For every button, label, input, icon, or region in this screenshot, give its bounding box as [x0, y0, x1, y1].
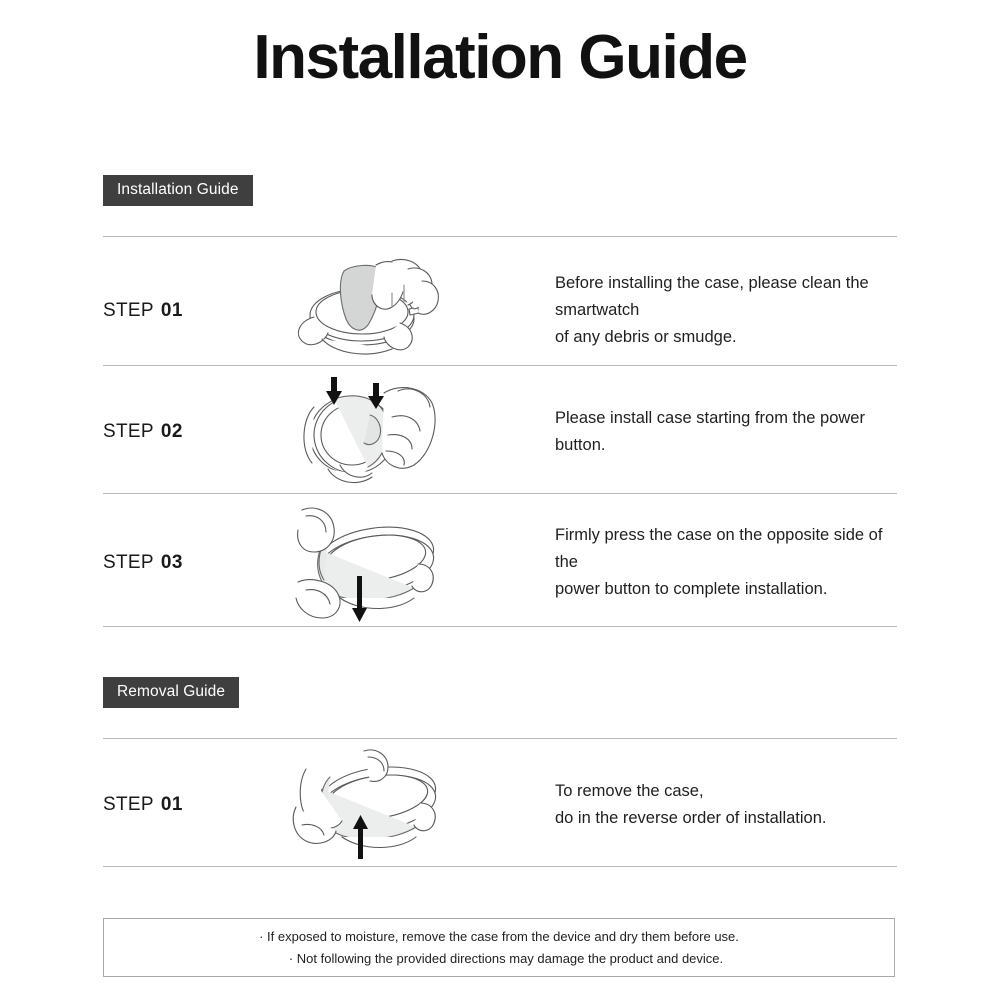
step-illustration-hand-pressing-opposite-side-down-arrow-icon [253, 502, 503, 624]
step-description: To remove the case, do in the reverse or… [503, 778, 897, 832]
step-row: STEP02 [103, 373, 897, 491]
step-description: Before installing the case, please clean… [503, 270, 897, 351]
divider [103, 626, 897, 627]
step-description: Firmly press the case on the opposite si… [503, 522, 897, 603]
description-line: Please install case starting from the po… [555, 405, 897, 459]
section-badge-removal: Removal Guide [103, 677, 239, 708]
description-line: Firmly press the case on the opposite si… [555, 522, 897, 576]
description-line: To remove the case, [555, 778, 897, 805]
step-label: STEP02 [103, 421, 253, 443]
divider [103, 365, 897, 366]
step-label: STEP03 [103, 552, 253, 574]
step-number: 02 [161, 421, 183, 442]
step-number: 01 [161, 300, 183, 321]
step-word: STEP [103, 794, 154, 815]
divider [103, 493, 897, 494]
step-number: 01 [161, 794, 183, 815]
divider [103, 236, 897, 237]
description-line: of any debris or smudge. [555, 324, 897, 351]
step-row: STEP03 [103, 501, 897, 624]
section-badge-installation: Installation Guide [103, 175, 253, 206]
footer-note-line: · If exposed to moisture, remove the cas… [259, 926, 739, 947]
footer-note-line: · Not following the provided directions … [275, 948, 723, 969]
step-word: STEP [103, 300, 154, 321]
description-line: power button to complete installation. [555, 576, 897, 603]
step-illustration-hand-lifting-case-off-watch-up-arrow-icon [253, 749, 503, 861]
page-title: Installation Guide [0, 22, 1000, 93]
step-row: STEP01 [103, 258, 897, 363]
divider [103, 866, 897, 867]
step-word: STEP [103, 421, 154, 442]
step-word: STEP [103, 552, 154, 573]
description-line: do in the reverse order of installation. [555, 805, 897, 832]
step-number: 03 [161, 552, 183, 573]
step-illustration-hand-pressing-case-onto-watch-two-down-arrows-icon [253, 373, 503, 491]
divider [103, 738, 897, 739]
step-label: STEP01 [103, 794, 253, 816]
step-row: STEP01 [103, 748, 897, 861]
description-line: Before installing the case, please clean… [555, 270, 897, 324]
step-label: STEP01 [103, 300, 253, 322]
footer-note-box: · If exposed to moisture, remove the cas… [103, 918, 895, 977]
installation-guide-page: Installation Guide Installation Guide ST… [0, 0, 1000, 1000]
step-illustration-hand-wiping-smartwatch-with-cloth-icon [253, 257, 503, 365]
step-description: Please install case starting from the po… [503, 405, 897, 459]
